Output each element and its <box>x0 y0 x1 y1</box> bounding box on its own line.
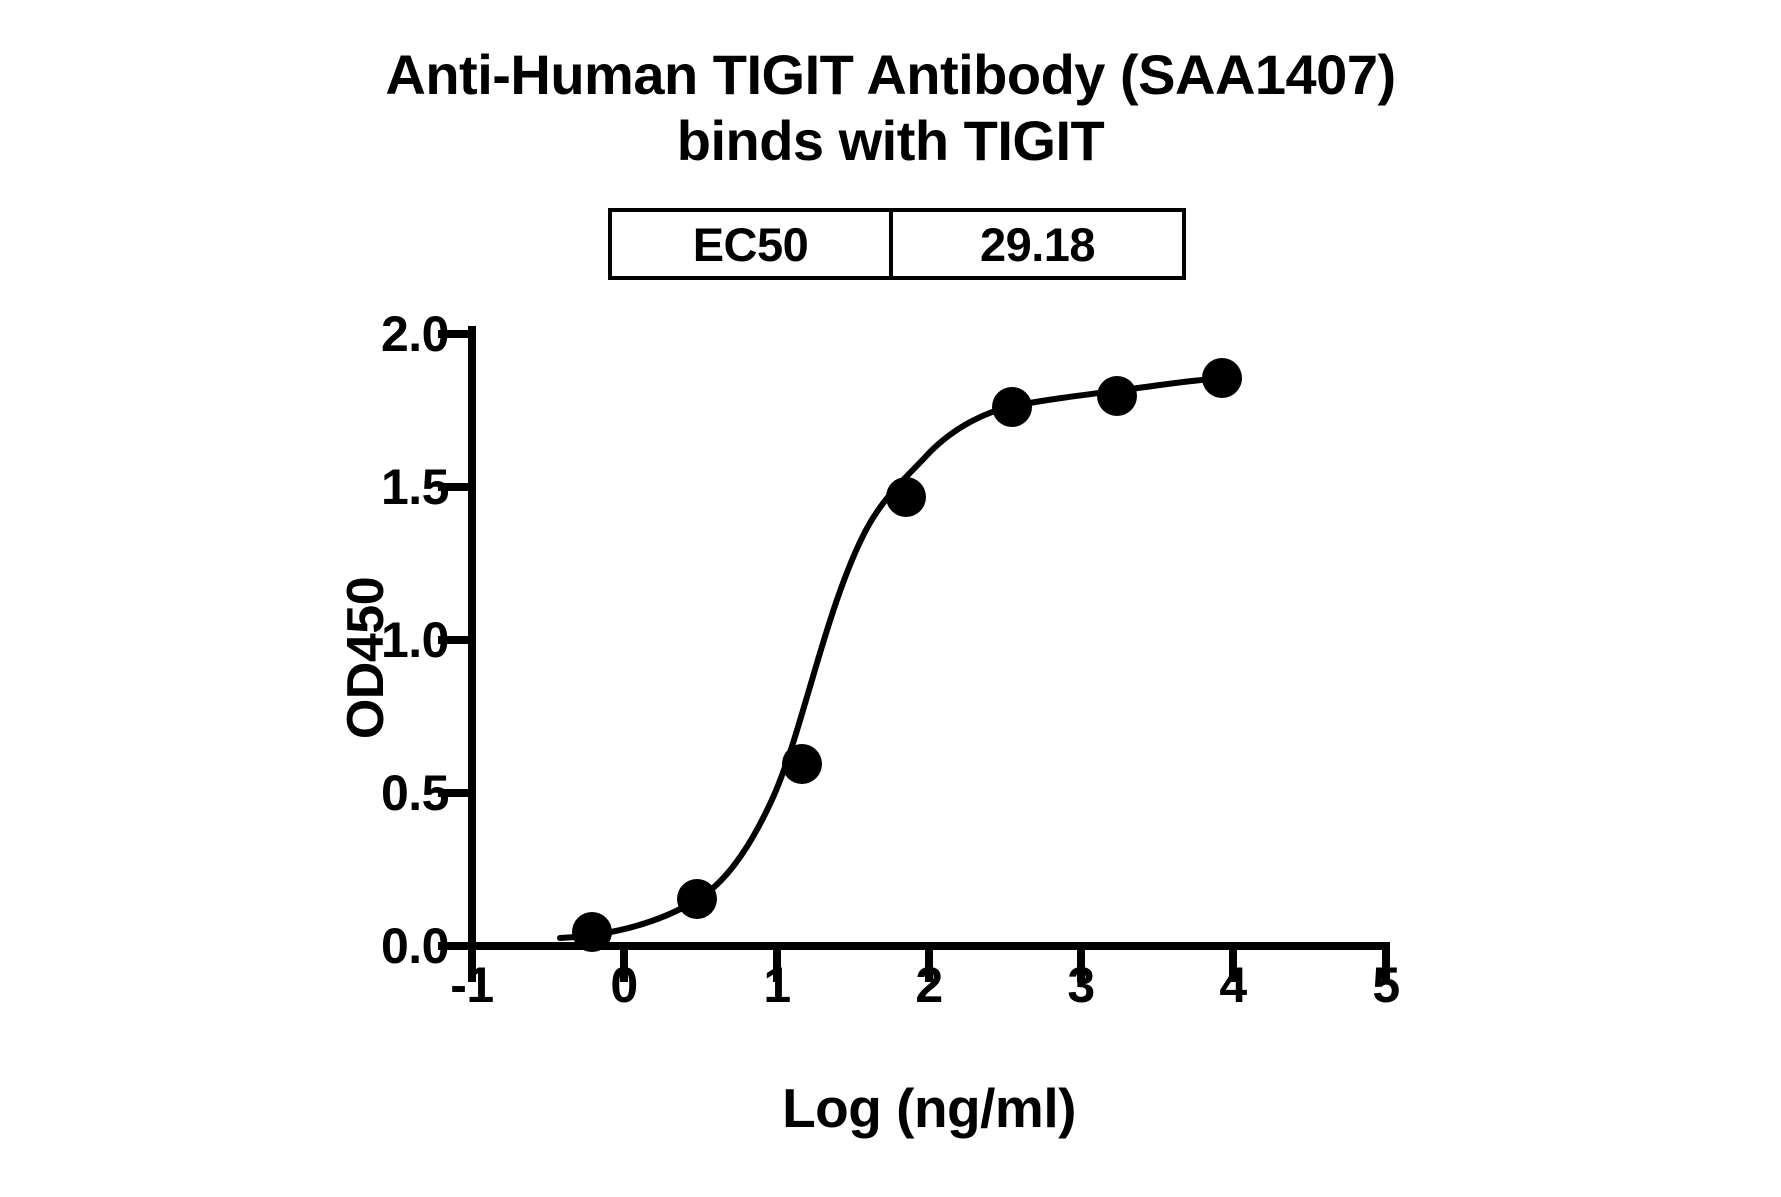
data-point <box>886 477 926 517</box>
data-point <box>677 879 717 919</box>
data-point <box>572 912 612 952</box>
x-tick-label-minus1: -1 <box>412 960 532 1010</box>
data-point <box>1097 376 1137 416</box>
x-axis-label: Log (ng/ml) <box>472 1076 1386 1140</box>
x-tick-label-4: 4 <box>1173 960 1293 1010</box>
figure-canvas: Anti-Human TIGIT Antibody (SAA1407) bind… <box>0 0 1781 1197</box>
x-tick-label-5: 5 <box>1326 960 1446 1010</box>
x-tick-label-2: 2 <box>869 960 989 1010</box>
data-point <box>1202 358 1242 398</box>
data-point <box>782 744 822 784</box>
plot-area <box>0 0 1781 1197</box>
dose-response-curve <box>560 378 1224 938</box>
x-tick-label-0: 0 <box>564 960 684 1010</box>
x-tick-label-3: 3 <box>1021 960 1141 1010</box>
x-tick-label-1: 1 <box>717 960 837 1010</box>
data-point-markers <box>572 358 1242 952</box>
y-axis-label: OD450 <box>336 488 396 828</box>
y-tick-label-2-0: 2.0 <box>381 309 449 359</box>
data-point <box>992 387 1032 427</box>
